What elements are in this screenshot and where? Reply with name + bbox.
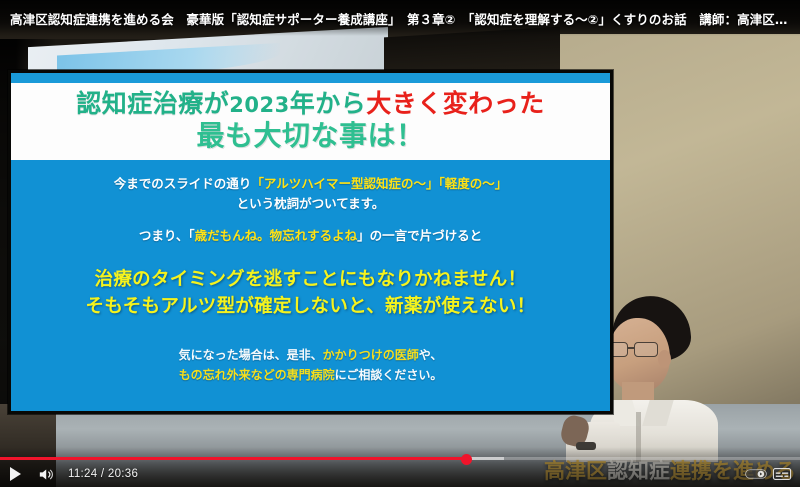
time-display: 11:24 / 20:36 xyxy=(68,468,138,480)
footnote-seg-2: や、 xyxy=(419,348,443,362)
presentation-slide: 認知症治療が2023年から大きく変わった 最も大切な事は！ 今までのスライドの通… xyxy=(8,70,613,414)
footnote-seg-3: にご相談ください。 xyxy=(335,368,443,382)
video-title: 高津区認知症連携を進める会 豪華版「認知症サポーター養成講座」 第３章② 「認知… xyxy=(10,9,790,28)
progress-played xyxy=(0,457,468,460)
progress-bar[interactable] xyxy=(0,457,800,460)
right-controls-group xyxy=(744,464,800,484)
paragraph-1-seg-1: 今までのスライドの通り xyxy=(114,176,252,191)
slide-title-line-2: 最も大切な事は！ xyxy=(11,119,610,152)
emphasis-line-2: そもそもアルツ型が確定しないと、新薬が使えない！ xyxy=(37,293,584,320)
footnote-seg-1: 気になった場合は、是非、 xyxy=(179,348,323,362)
title-segment-year: 2023 xyxy=(229,93,289,117)
slide-body: 今までのスライドの通り「アルツハイマー型認知症の〜」「軽度の〜」 という枕詞がつ… xyxy=(11,160,610,411)
slide-paragraph-1: 今までのスライドの通り「アルツハイマー型認知症の〜」「軽度の〜」 という枕詞がつ… xyxy=(37,174,584,215)
video-title-bar: 高津区認知症連携を進める会 豪華版「認知症サポーター養成講座」 第３章② 「認知… xyxy=(0,0,800,36)
slide-paragraph-2: つまり、「歳だもんね。物忘れするよね」の一言で片づけると xyxy=(37,226,584,246)
presenter-person xyxy=(596,296,746,461)
controls-row: 11:24 / 20:36 xyxy=(0,461,800,487)
title-segment-red: 大きく変わった xyxy=(366,89,545,118)
player-controls[interactable]: 11:24 / 20:36 xyxy=(0,447,800,487)
slide-title-line-1: 認知症治療が2023年から大きく変わった xyxy=(11,89,610,119)
paragraph-2-seg-3: 」の一言で片づけると xyxy=(357,228,482,243)
slide-emphasis-block: 治療のタイミングを逃すことにもなりかねません！ そもそもアルツ型が確定しないと、… xyxy=(37,266,584,320)
subtitles-button[interactable] xyxy=(770,464,794,484)
autoplay-toggle-icon xyxy=(745,467,767,481)
emphasis-line-1: 治療のタイミングを逃すことにもなりかねません！ xyxy=(37,266,584,293)
footnote-highlight-2: もの忘れ外来などの専門病院 xyxy=(179,368,335,382)
play-button[interactable] xyxy=(0,461,30,487)
title-segment-teal-2: 年から xyxy=(290,89,367,118)
footnote-line-1: 気になった場合は、是非、かかりつけの医師や、 xyxy=(37,346,584,366)
play-icon xyxy=(10,467,21,481)
subtitles-icon xyxy=(772,467,792,481)
paragraph-1-line-1: 今までのスライドの通り「アルツハイマー型認知症の〜」「軽度の〜」 xyxy=(37,174,584,194)
paragraph-2-highlight: 歳だもんね。物忘れするよね xyxy=(195,228,358,243)
title-segment-teal-1: 認知症治療が xyxy=(76,89,229,118)
slide-top-accent-bar xyxy=(11,73,610,83)
paragraph-1-line-2: という枕詞がついてます。 xyxy=(37,194,584,214)
volume-icon xyxy=(37,466,54,483)
paragraph-2-seg-1: つまり、「 xyxy=(139,228,195,243)
slide-title-area: 認知症治療が2023年から大きく変わった 最も大切な事は！ xyxy=(11,83,610,160)
footnote-highlight-1: かかりつけの医師 xyxy=(323,348,419,362)
autoplay-toggle-button[interactable] xyxy=(744,464,768,484)
volume-button[interactable] xyxy=(30,461,60,487)
footnote-line-2: もの忘れ外来などの専門病院にご相談ください。 xyxy=(37,366,584,386)
paragraph-1-highlight: 「アルツハイマー型認知症の〜」「軽度の〜」 xyxy=(251,176,507,191)
title-segment-green: 最も大切な事は！ xyxy=(196,119,424,152)
progress-buffered xyxy=(468,457,504,460)
video-player[interactable]: 認知症治療が2023年から大きく変わった 最も大切な事は！ 今までのスライドの通… xyxy=(0,0,800,487)
slide-footnote: 気になった場合は、是非、かかりつけの医師や、 もの忘れ外来などの専門病院にご相談… xyxy=(37,346,584,386)
